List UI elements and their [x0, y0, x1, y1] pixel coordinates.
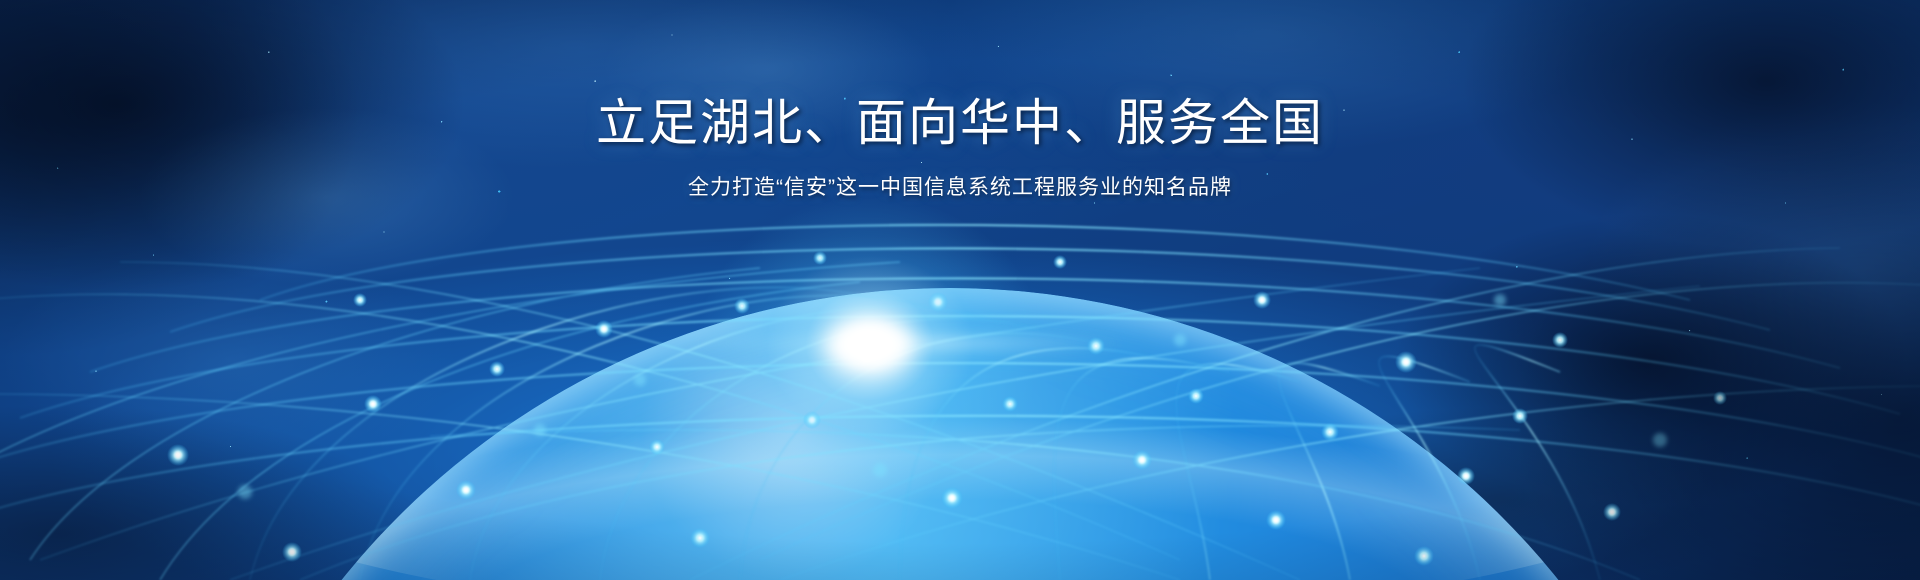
hero-banner: 立足湖北、面向华中、服务全国 全力打造“信安”这一中国信息系统工程服务业的知名品…	[0, 0, 1920, 580]
glow-burst	[870, 345, 872, 347]
banner-copy: 立足湖北、面向华中、服务全国 全力打造“信安”这一中国信息系统工程服务业的知名品…	[0, 96, 1920, 201]
banner-subline: 全力打造“信安”这一中国信息系统工程服务业的知名品牌	[0, 174, 1920, 201]
banner-headline: 立足湖北、面向华中、服务全国	[0, 96, 1920, 150]
